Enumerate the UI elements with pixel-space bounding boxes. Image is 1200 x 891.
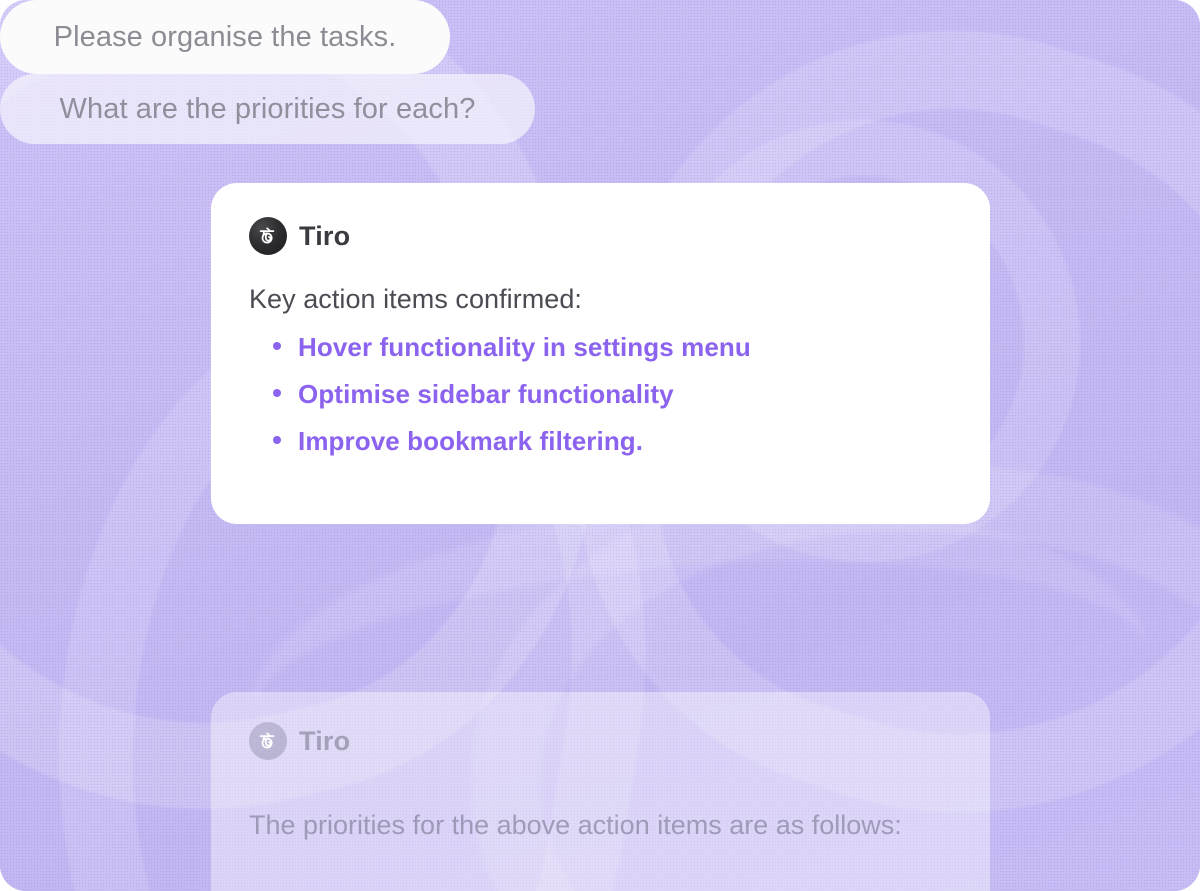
user-message-text: Please organise the tasks. xyxy=(54,21,397,54)
assistant-card-header: Tiro xyxy=(249,217,952,255)
assistant-message-card-faded: Tiro The priorities for the above action… xyxy=(211,692,990,891)
tiro-logo-icon xyxy=(249,722,287,760)
assistant-card-body: Key action items confirmed: Hover functi… xyxy=(249,283,952,457)
list-item: Improve bookmark filtering. xyxy=(249,427,952,457)
bullet-dot-icon xyxy=(273,436,281,444)
list-item: Hover functionality in settings menu xyxy=(249,333,952,363)
chat-thread: Please organise the tasks. T xyxy=(0,0,1200,891)
user-message-bubble: What are the priorities for each? xyxy=(0,74,535,144)
assistant-message-card: Tiro Key action items confirmed: Hover f… xyxy=(211,183,990,524)
chat-mockup: Please organise the tasks. T xyxy=(0,0,1200,891)
tiro-logo-icon xyxy=(249,217,287,255)
bullet-dot-icon xyxy=(273,389,281,397)
assistant-brand-name: Tiro xyxy=(299,726,350,757)
assistant-brand-name: Tiro xyxy=(299,221,350,252)
bullet-dot-icon xyxy=(273,342,281,350)
action-item-label: Hover functionality in settings menu xyxy=(298,333,751,363)
user-message-bubble: Please organise the tasks. xyxy=(0,0,450,74)
action-items-list: Hover functionality in settings menu Opt… xyxy=(249,333,952,457)
action-item-label: Improve bookmark filtering. xyxy=(298,427,643,457)
assistant-card-header: Tiro xyxy=(249,722,952,760)
list-item: Optimise sidebar functionality xyxy=(249,380,952,410)
user-message-text: What are the priorities for each? xyxy=(60,93,476,126)
assistant-intro-text: Key action items confirmed: xyxy=(249,283,952,315)
action-item-label: Optimise sidebar functionality xyxy=(298,380,674,410)
assistant-body-text: The priorities for the above action item… xyxy=(249,804,909,848)
